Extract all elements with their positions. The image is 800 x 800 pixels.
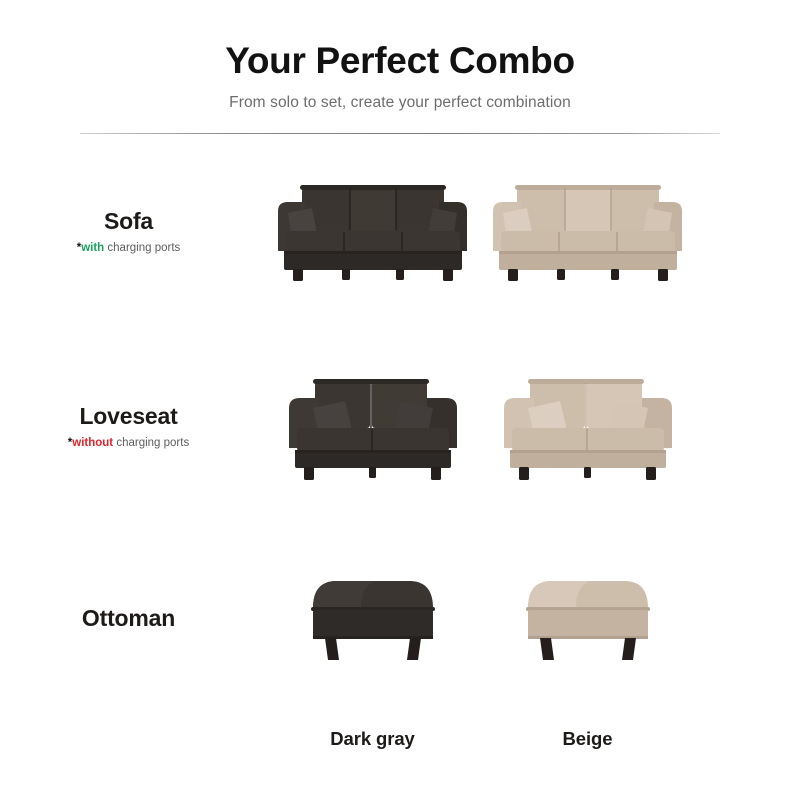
row-ottoman: Ottoman	[0, 524, 800, 714]
note-rest: charging ports	[113, 437, 189, 449]
product-sofa-dark-gray[interactable]	[265, 171, 480, 291]
row-loveseat: Loveseat *without charging ports	[0, 329, 800, 524]
note-keyword: with	[81, 242, 104, 254]
product-ottoman-dark-gray[interactable]	[265, 566, 480, 671]
loveseat-beige-image	[498, 366, 678, 486]
sofa-beige-image	[485, 171, 690, 291]
product-loveseat-dark-gray[interactable]	[265, 366, 480, 486]
product-sofa-beige[interactable]	[480, 171, 695, 291]
row-note-loveseat: *without charging ports	[0, 437, 257, 449]
page-header: Your Perfect Combo From solo to set, cre…	[0, 0, 800, 134]
note-keyword: without	[72, 437, 113, 449]
loveseat-dark-gray-image	[283, 366, 463, 486]
row-sofa: Sofa *with charging ports	[0, 134, 800, 329]
note-rest: charging ports	[104, 242, 180, 254]
product-comparison-grid: Sofa *with charging ports	[0, 134, 800, 750]
row-name-ottoman: Ottoman	[0, 605, 257, 632]
caption-spacer	[0, 728, 265, 750]
row-label-sofa: Sofa *with charging ports	[0, 208, 265, 254]
ottoman-beige-image	[518, 566, 658, 671]
page-title: Your Perfect Combo	[0, 42, 800, 81]
caption-beige: Beige	[480, 728, 695, 750]
row-label-ottoman: Ottoman	[0, 605, 265, 632]
row-note-sofa: *with charging ports	[0, 242, 257, 254]
product-loveseat-beige[interactable]	[480, 366, 695, 486]
color-captions: Dark gray Beige	[0, 728, 800, 750]
product-ottoman-beige[interactable]	[480, 566, 695, 671]
sofa-dark-gray-image	[270, 171, 475, 291]
ottoman-dark-gray-image	[303, 566, 443, 671]
row-name-sofa: Sofa	[0, 208, 257, 235]
row-name-loveseat: Loveseat	[0, 403, 257, 430]
caption-dark-gray: Dark gray	[265, 728, 480, 750]
row-label-loveseat: Loveseat *without charging ports	[0, 403, 265, 449]
page-subtitle: From solo to set, create your perfect co…	[0, 94, 800, 112]
